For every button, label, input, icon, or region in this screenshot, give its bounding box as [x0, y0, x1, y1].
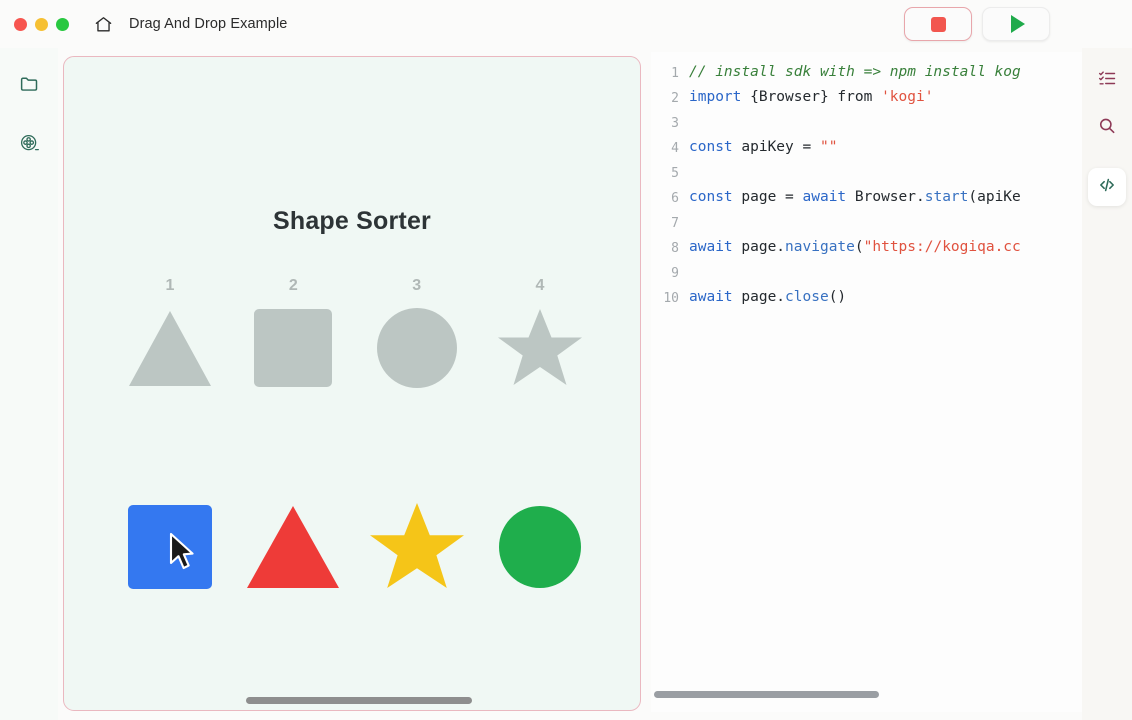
code-token: Browser.: [846, 189, 925, 205]
toolbar-actions: [904, 7, 1050, 41]
ghost-star-icon: [497, 307, 583, 389]
line-number: 5: [651, 164, 689, 181]
sidebar-item-tasks[interactable]: [1082, 56, 1132, 104]
window-title: Drag And Drop Example: [129, 16, 287, 32]
line-number: 7: [651, 214, 689, 231]
draggable-square[interactable]: [120, 497, 220, 597]
code-token: (: [855, 239, 864, 255]
checklist-icon: [1097, 68, 1117, 93]
line-number: 10: [651, 289, 689, 306]
code-token: const: [689, 139, 733, 155]
code-line: 5: [651, 164, 1082, 189]
code-line: 3: [651, 114, 1082, 139]
preview-panel: Shape Sorter 1 2 3: [63, 56, 641, 711]
target-slot-3[interactable]: 3: [367, 277, 467, 389]
ghost-square-icon: [250, 307, 336, 389]
line-number: 1: [651, 64, 689, 81]
code-line-text: import {Browser} from 'kogi': [689, 89, 933, 105]
code-token: close: [785, 289, 829, 305]
code-line: 7: [651, 214, 1082, 239]
draggable-circle[interactable]: [490, 497, 590, 597]
code-line: 10await page.close(): [651, 289, 1082, 314]
code-token: await: [803, 189, 847, 205]
target-slot-1[interactable]: 1: [120, 277, 220, 389]
code-token: await: [689, 239, 733, 255]
code-token: navigate: [785, 239, 855, 255]
code-token: (): [829, 289, 846, 305]
code-line: 8await page.navigate("https://kogiqa.cc: [651, 239, 1082, 264]
stop-button[interactable]: [904, 7, 972, 41]
play-triangle-icon: [1011, 15, 1025, 33]
slot-number: 3: [412, 277, 421, 295]
ghost-circle-icon: [374, 307, 460, 389]
page-title: Shape Sorter: [64, 207, 640, 236]
yellow-star-icon: [369, 501, 465, 593]
code-brackets-icon: [1097, 175, 1117, 200]
ghost-triangle-icon: [127, 307, 213, 389]
code-token: (apiKe: [968, 189, 1020, 205]
play-button[interactable]: [982, 7, 1050, 41]
code-token: await: [689, 289, 733, 305]
draggable-triangle[interactable]: [243, 497, 343, 597]
stop-square-icon: [931, 17, 946, 32]
slot-number: 4: [536, 277, 545, 295]
code-editor-panel[interactable]: 1// install sdk with => npm install kog2…: [651, 52, 1082, 712]
code-token: page.: [733, 239, 785, 255]
right-sidebar: [1082, 48, 1132, 720]
line-number: 8: [651, 239, 689, 256]
code-line: 6const page = await Browser.start(apiKe: [651, 189, 1082, 214]
blue-square-icon: [128, 505, 212, 589]
code-h-scrollbar[interactable]: [654, 691, 879, 698]
code-line: 1// install sdk with => npm install kog: [651, 64, 1082, 89]
green-circle-icon: [499, 506, 581, 588]
draggable-shapes-row: [120, 497, 590, 597]
minimize-window-button[interactable]: [35, 18, 48, 31]
folder-icon: [19, 73, 40, 99]
preview-h-scrollbar[interactable]: [246, 697, 472, 704]
code-token: {Browser} from: [741, 89, 881, 105]
line-number: 3: [651, 114, 689, 131]
code-token: page.: [733, 289, 785, 305]
home-icon[interactable]: [93, 14, 113, 34]
traffic-lights: [14, 18, 69, 31]
target-slots-row: 1 2 3 4: [120, 277, 590, 389]
draggable-star[interactable]: [367, 497, 467, 597]
code-lines: 1// install sdk with => npm install kog2…: [651, 52, 1082, 314]
code-line-text: // install sdk with => npm install kog: [689, 64, 1021, 80]
sidebar-item-files[interactable]: [0, 63, 58, 109]
code-line-text: await page.close(): [689, 289, 846, 305]
sidebar-item-code[interactable]: [1088, 168, 1126, 206]
code-token: start: [925, 189, 969, 205]
line-number: 9: [651, 264, 689, 281]
line-number: 2: [651, 89, 689, 106]
code-line: 2import {Browser} from 'kogi': [651, 89, 1082, 114]
code-token: const: [689, 189, 733, 205]
code-token: "https://kogiqa.cc: [864, 239, 1021, 255]
target-slot-2[interactable]: 2: [243, 277, 343, 389]
code-line: 9: [651, 264, 1082, 289]
code-line-text: const page = await Browser.start(apiKe: [689, 189, 1021, 205]
search-icon: [1097, 116, 1117, 141]
sidebar-item-recordings[interactable]: [0, 123, 58, 169]
red-triangle-icon: [245, 503, 341, 591]
title-bar: Drag And Drop Example: [0, 0, 1132, 48]
target-slot-4[interactable]: 4: [490, 277, 590, 389]
code-line: 4const apiKey = "": [651, 139, 1082, 164]
code-token: apiKey =: [733, 139, 820, 155]
code-token: page =: [733, 189, 803, 205]
code-token: "": [820, 139, 837, 155]
film-reel-icon: [19, 133, 40, 159]
maximize-window-button[interactable]: [56, 18, 69, 31]
code-line-text: const apiKey = "": [689, 139, 837, 155]
slot-number: 2: [289, 277, 298, 295]
left-sidebar: [0, 48, 58, 720]
slot-number: 1: [166, 277, 175, 295]
code-token: // install sdk with => npm install kog: [689, 64, 1021, 80]
close-window-button[interactable]: [14, 18, 27, 31]
code-token: import: [689, 89, 741, 105]
line-number: 4: [651, 139, 689, 156]
app-window: Drag And Drop Example: [0, 0, 1132, 720]
code-token: 'kogi': [881, 89, 933, 105]
code-line-text: await page.navigate("https://kogiqa.cc: [689, 239, 1021, 255]
line-number: 6: [651, 189, 689, 206]
shape-sorter-stage: Shape Sorter 1 2 3: [64, 57, 640, 710]
sidebar-item-search[interactable]: [1082, 104, 1132, 152]
